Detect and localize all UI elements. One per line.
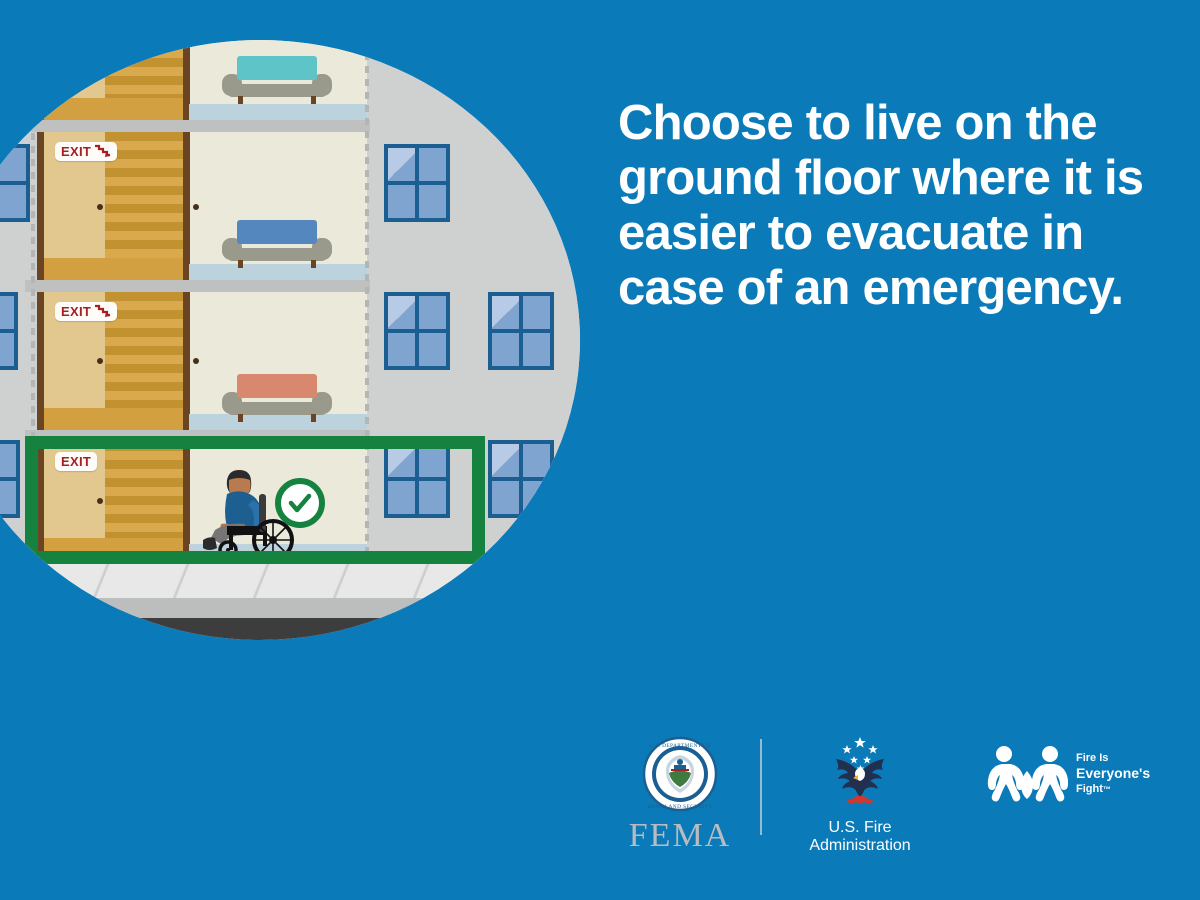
window-mullion-horizontal <box>388 329 446 333</box>
exit-sign-second-floor: EXIT <box>55 302 117 321</box>
building-scene: EXIT <box>0 40 580 640</box>
facade-window <box>0 144 30 222</box>
seal-ring-top-text: U.S. DEPARTMENT OF <box>649 743 711 749</box>
window-mullion-horizontal <box>388 181 446 185</box>
sofa-leg <box>238 260 243 268</box>
floor-third-rail-knob <box>193 204 199 210</box>
usfa-eagle-icon <box>814 735 906 815</box>
window-mullion-horizontal <box>0 477 16 481</box>
floor-third-post-left <box>37 132 44 280</box>
exit-sign-third-floor: EXIT <box>55 142 117 161</box>
fief-wordmark: Fire Is Everyone's Fight™ <box>1076 752 1150 797</box>
street-curb <box>0 598 580 620</box>
figure-body-right <box>1032 764 1068 802</box>
usfa-wordmark: U.S. Fire Administration <box>809 819 910 856</box>
facade-window <box>384 292 450 370</box>
sofa-back <box>237 220 317 244</box>
facade-window <box>0 292 18 370</box>
sofa-leg <box>311 260 316 268</box>
floor-second-door-knob[interactable] <box>97 358 103 364</box>
window-shine <box>388 296 417 331</box>
floor-second-post-right <box>183 292 190 430</box>
footer-logos: U.S. DEPARTMENT OF HOMELAND SECURITY FEM… <box>600 735 1160 865</box>
fire-is-everyones-fight-logo: Fire Is Everyone's Fight™ <box>986 743 1150 805</box>
eagle-flames <box>846 796 874 803</box>
sofa-third-floor <box>222 220 332 268</box>
exit-sign-label: EXIT <box>61 304 91 319</box>
fief-line-1: Fire Is <box>1076 752 1150 766</box>
fief-figures-icon <box>986 743 1068 805</box>
window-mullion-horizontal <box>492 477 550 481</box>
floor-second-landing <box>37 408 189 430</box>
facade-window <box>384 144 450 222</box>
fema-wordmark: FEMA <box>629 817 731 855</box>
floor-second-rail-knob <box>193 358 199 364</box>
ground-floor-highlight-box <box>25 436 485 564</box>
stairs-down-arrow-icon <box>94 144 111 159</box>
figure-body-left <box>988 764 1024 802</box>
floor-top <box>37 40 367 120</box>
road-asphalt <box>0 618 580 640</box>
usfa-line-2: Administration <box>809 837 910 855</box>
facade-window <box>0 440 20 518</box>
usfa-logo: U.S. Fire Administration <box>780 735 940 856</box>
floor-top-post-left <box>37 40 44 120</box>
floor-second-post-left <box>37 292 44 430</box>
exit-sign-label: EXIT <box>61 144 91 159</box>
sofa-leg <box>311 414 316 422</box>
figure-head-right <box>1042 746 1058 762</box>
floor-second: EXIT <box>37 292 367 430</box>
sofa-second-floor <box>222 374 332 422</box>
stairs-down-arrow-icon <box>94 304 111 319</box>
window-mullion-horizontal <box>0 329 14 333</box>
figure-head-left <box>996 746 1012 762</box>
logo-divider <box>760 739 762 835</box>
circular-illustration-frame: EXIT <box>0 40 580 640</box>
floor-top-landing <box>37 98 189 120</box>
window-shine <box>388 148 417 183</box>
building-illustration: EXIT <box>0 40 580 640</box>
usfa-line-1: U.S. Fire <box>809 819 910 837</box>
sofa-leg <box>238 414 243 422</box>
sofa-back <box>237 374 317 398</box>
sofa-back <box>237 56 317 80</box>
facade-window <box>488 292 554 370</box>
window-mullion-horizontal <box>0 181 26 185</box>
poster-canvas: EXIT <box>0 0 1200 900</box>
fief-line-3: Fight™ <box>1076 783 1150 797</box>
sofa-top-floor <box>222 56 332 104</box>
fief-line-2: Everyone's <box>1076 765 1150 783</box>
page-headline: Choose to live on the ground floor where… <box>618 96 1158 316</box>
floor-third-landing <box>37 258 189 280</box>
window-mullion-horizontal <box>492 329 550 333</box>
facade-window <box>488 440 554 518</box>
floor-third-door-knob[interactable] <box>97 204 103 210</box>
fief-trademark: ™ <box>1103 785 1111 794</box>
fema-logo: U.S. DEPARTMENT OF HOMELAND SECURITY FEM… <box>600 735 760 855</box>
dhs-seal-icon: U.S. DEPARTMENT OF HOMELAND SECURITY <box>641 735 719 813</box>
seal-ring-bottom-text: HOMELAND SECURITY <box>647 804 712 810</box>
floor-top-baseboard <box>189 104 367 120</box>
slab-top <box>25 120 370 132</box>
sofa-leg <box>311 96 316 104</box>
sofa-leg <box>238 96 243 104</box>
slab-third <box>25 280 370 292</box>
window-shine <box>492 444 521 479</box>
floor-third: EXIT <box>37 132 367 280</box>
floor-third-post-right <box>183 132 190 280</box>
window-shine <box>492 296 521 331</box>
